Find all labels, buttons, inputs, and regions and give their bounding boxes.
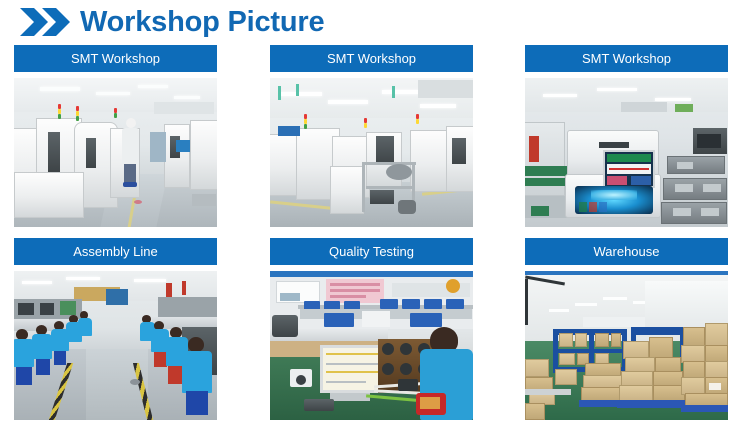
gallery-card-smt-workshop-2[interactable]: SMT Workshop bbox=[270, 45, 473, 227]
card-label: SMT Workshop bbox=[525, 45, 728, 72]
workshop-picture-page: Workshop Picture SMT Workshop bbox=[0, 0, 750, 426]
card-photo-quality-testing bbox=[270, 271, 473, 420]
card-label: Warehouse bbox=[525, 238, 728, 265]
card-label: Quality Testing bbox=[270, 238, 473, 265]
gallery-card-smt-workshop-1[interactable]: SMT Workshop bbox=[14, 45, 217, 227]
card-label: Assembly Line bbox=[14, 238, 217, 265]
card-photo-warehouse bbox=[525, 271, 728, 420]
page-header: Workshop Picture bbox=[0, 0, 750, 44]
gallery-card-smt-workshop-3[interactable]: SMT Workshop bbox=[525, 45, 728, 227]
page-title: Workshop Picture bbox=[80, 2, 324, 42]
card-photo-assembly-line bbox=[14, 271, 217, 420]
double-chevron-right-icon bbox=[20, 8, 72, 36]
card-photo-smt-workshop-2 bbox=[270, 78, 473, 227]
gallery-card-warehouse[interactable]: Warehouse bbox=[525, 238, 728, 420]
card-label: SMT Workshop bbox=[14, 45, 217, 72]
card-photo-smt-workshop-3 bbox=[525, 78, 728, 227]
gallery-card-assembly-line[interactable]: Assembly Line bbox=[14, 238, 217, 420]
gallery-card-quality-testing[interactable]: Quality Testing bbox=[270, 238, 473, 420]
card-photo-smt-workshop-1 bbox=[14, 78, 217, 227]
card-label: SMT Workshop bbox=[270, 45, 473, 72]
